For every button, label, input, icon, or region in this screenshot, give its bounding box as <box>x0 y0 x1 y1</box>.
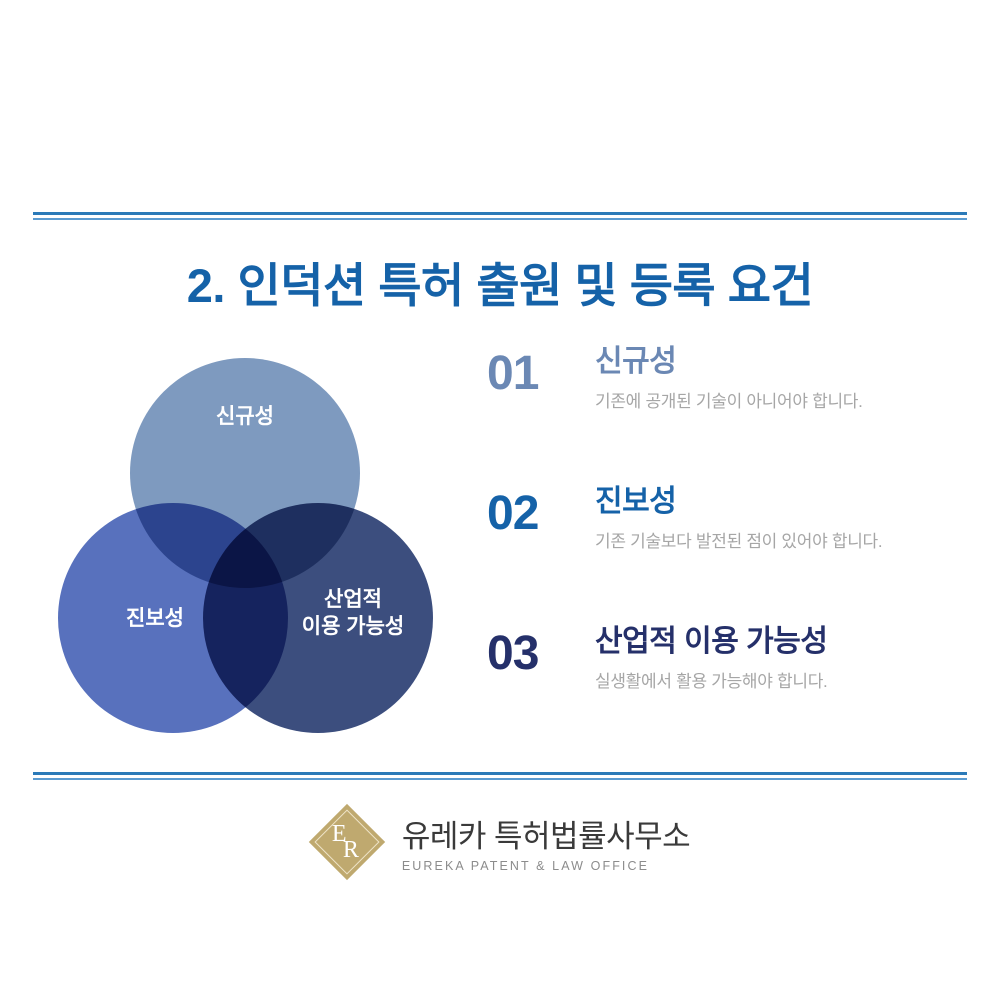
logo-monogram-r: R <box>343 838 359 862</box>
firm-name-en: EUREKA PATENT & LAW OFFICE <box>402 859 690 873</box>
page-title: 2. 인덕션 특허 출원 및 등록 요건 <box>0 247 1000 316</box>
requirement-heading-03: 산업적 이용 가능성 <box>595 624 957 660</box>
venn-label-line-2: 이용 가능성 <box>273 613 433 640</box>
divider-bottom <box>33 772 967 780</box>
requirement-heading-01: 신규성 <box>595 344 957 380</box>
requirement-item-01: 01 신규성 기존에 공개된 기술이 아니어야 합니다. <box>487 344 957 484</box>
firm-name-block: 유레카 특허법률사무소 EUREKA PATENT & LAW OFFICE <box>402 811 690 873</box>
venn-diagram: 신규성 진보성 산업적 이용 가능성 <box>58 358 433 733</box>
slide-canvas: 2. 인덕션 특허 출원 및 등록 요건 신규성 진보성 산업적 이용 가능성 … <box>0 0 1000 1000</box>
requirement-number-03: 03 <box>487 630 577 678</box>
venn-label-line-1: 산업적 <box>273 586 433 613</box>
requirement-list: 01 신규성 기존에 공개된 기술이 아니어야 합니다. 02 진보성 기존 기… <box>487 344 957 764</box>
requirement-item-02: 02 진보성 기존 기술보다 발전된 점이 있어야 합니다. <box>487 484 957 624</box>
requirement-description-03: 실생활에서 활용 가능해야 합니다. <box>595 667 957 692</box>
requirement-number-02: 02 <box>487 490 577 538</box>
requirement-body-02: 진보성 기존 기술보다 발전된 점이 있어야 합니다. <box>595 484 957 552</box>
divider-top-thin-line <box>33 218 967 220</box>
requirement-item-03: 03 산업적 이용 가능성 실생활에서 활용 가능해야 합니다. <box>487 624 957 764</box>
requirement-heading-02: 진보성 <box>595 484 957 520</box>
requirement-number-01: 01 <box>487 350 577 398</box>
divider-top <box>33 212 967 220</box>
divider-bottom-thin-line <box>33 778 967 780</box>
venn-label-industrial-applicability: 산업적 이용 가능성 <box>273 586 433 641</box>
requirement-body-03: 산업적 이용 가능성 실생활에서 활용 가능해야 합니다. <box>595 624 957 692</box>
firm-name-ko: 유레카 특허법률사무소 <box>402 811 690 856</box>
requirement-description-01: 기존에 공개된 기술이 아니어야 합니다. <box>595 387 957 412</box>
venn-label-novelty: 신규성 <box>175 403 315 430</box>
diamond-logo-icon: E R <box>310 805 384 879</box>
venn-label-inventiveness: 진보성 <box>85 605 225 632</box>
requirement-description-02: 기존 기술보다 발전된 점이 있어야 합니다. <box>595 527 957 552</box>
logo-monogram: E R <box>310 805 384 879</box>
footer-branding: E R 유레카 특허법률사무소 EUREKA PATENT & LAW OFFI… <box>0 805 1000 879</box>
requirement-body-01: 신규성 기존에 공개된 기술이 아니어야 합니다. <box>595 344 957 412</box>
